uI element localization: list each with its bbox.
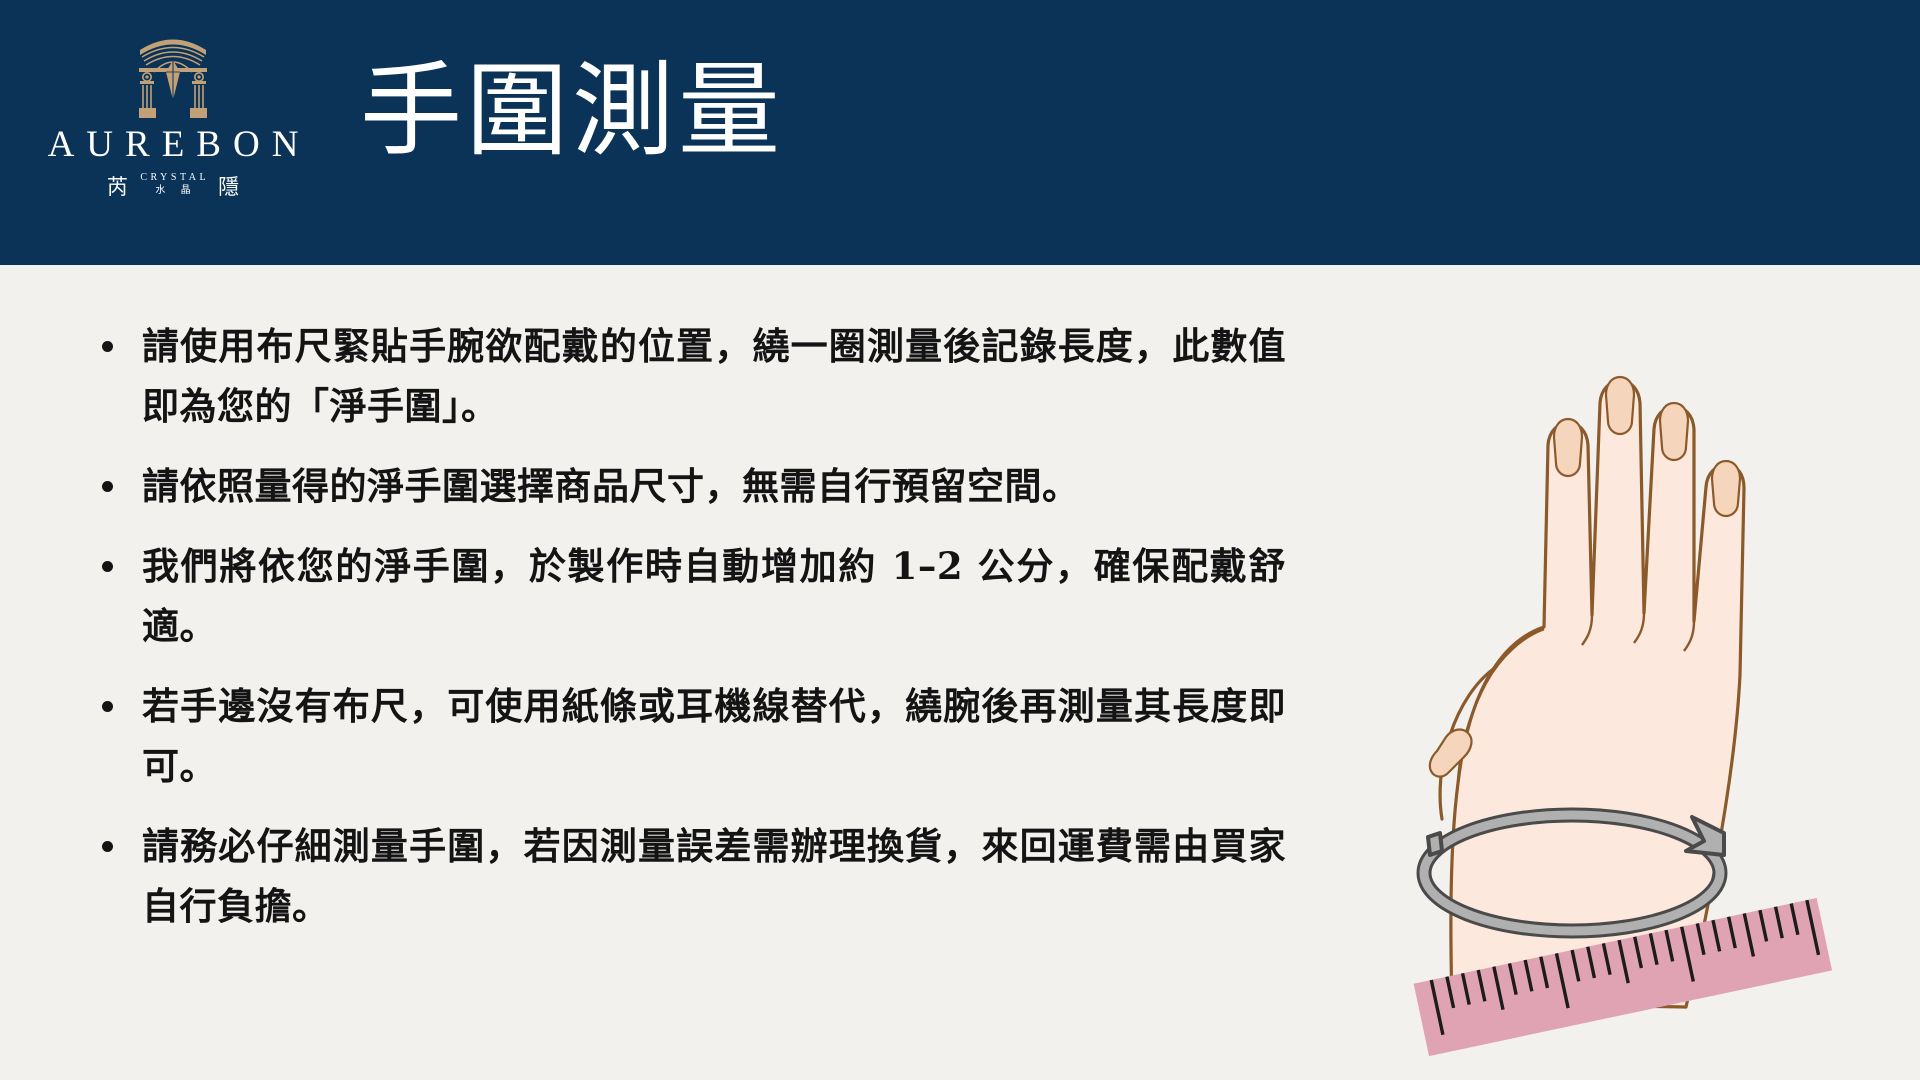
bullet-dot-icon (102, 841, 113, 852)
list-item: 我們將依您的淨手圍，於製作時自動增加約 1–2 公分，確保配戴舒適。 (96, 537, 1286, 657)
logo-wordmark: AUREBON (36, 126, 311, 163)
list-item: 若手邊沒有布尺，可使用紙條或耳機線替代，繞腕後再測量其長度即可。 (96, 677, 1286, 797)
logo-sub-chinese: 水 晶 (149, 184, 196, 197)
page-title: 手圍測量 (360, 48, 784, 176)
bullet-dot-icon (102, 561, 113, 572)
list-item-text: 請務必仔細測量手圍，若因測量誤差需辦理換貨，來回運費需由買家自行負擔。 (142, 824, 1286, 928)
logo-sub-middle: CRYSTAL 水 晶 (137, 172, 209, 198)
hand-measurement-illustration (1300, 285, 1860, 1075)
bullet-dot-icon (102, 701, 113, 712)
arch-pillars-crystal-logo-icon (130, 28, 216, 120)
logo-sub-cjk-left: 芮 (107, 177, 128, 198)
list-item-text: 請使用布尺緊貼手腕欲配戴的位置，繞一圈測量後記錄長度，此數值即為您的「淨手圍」。 (142, 324, 1286, 428)
wrist-measurement-infographic: AUREBON 芮 CRYSTAL 水 晶 隱 手圍測量 請使用布尺緊貼手腕欲配… (0, 0, 1920, 1080)
list-item-text: 請依照量得的淨手圍選擇商品尺寸，無需自行預留空間。 (142, 464, 1080, 508)
list-item: 請務必仔細測量手圍，若因測量誤差需辦理換貨，來回運費需由買家自行負擔。 (96, 817, 1286, 937)
instruction-list: 請使用布尺緊貼手腕欲配戴的位置，繞一圈測量後記錄長度，此數值即為您的「淨手圍」。… (96, 317, 1286, 936)
brand-logo: AUREBON 芮 CRYSTAL 水 晶 隱 (38, 28, 308, 233)
logo-sub-cjk-right: 隱 (218, 177, 239, 198)
list-item: 請使用布尺緊貼手腕欲配戴的位置，繞一圈測量後記錄長度，此數值即為您的「淨手圍」。 (96, 317, 1286, 437)
bullet-dot-icon (102, 341, 113, 352)
bullet-dot-icon (102, 481, 113, 492)
header-banner: AUREBON 芮 CRYSTAL 水 晶 隱 手圍測量 (0, 0, 1920, 265)
logo-sub-english: CRYSTAL (137, 172, 209, 184)
content-area: 請使用布尺緊貼手腕欲配戴的位置，繞一圈測量後記錄長度，此數值即為您的「淨手圍」。… (0, 265, 1920, 1080)
list-item-text: 我們將依您的淨手圍，於製作時自動增加約 1–2 公分，確保配戴舒適。 (142, 544, 1286, 648)
list-item-text: 若手邊沒有布尺，可使用紙條或耳機線替代，繞腕後再測量其長度即可。 (142, 684, 1286, 788)
list-item: 請依照量得的淨手圍選擇商品尺寸，無需自行預留空間。 (96, 457, 1286, 517)
logo-subtitle: 芮 CRYSTAL 水 晶 隱 (107, 172, 239, 198)
